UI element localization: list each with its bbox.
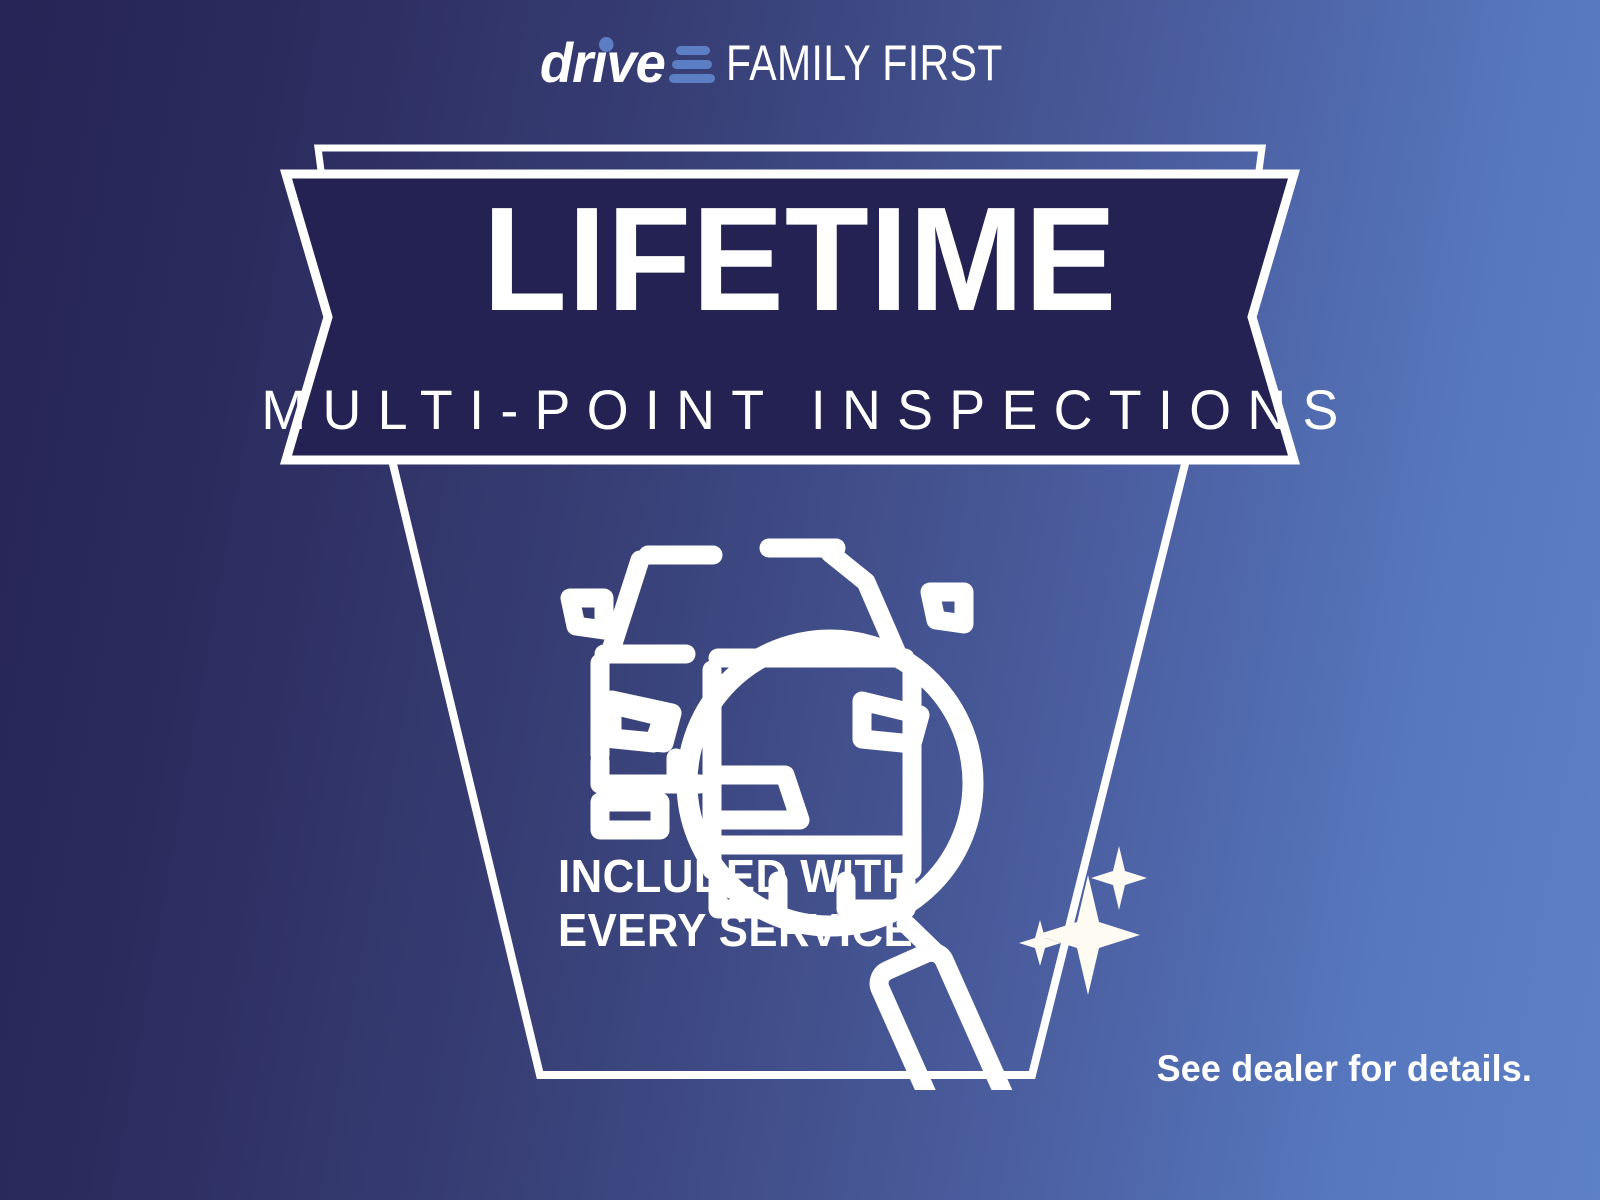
brand-lockup: drive FAMILY FIRST: [0, 28, 1600, 98]
car-magnifier-inspection-icon: [570, 548, 973, 926]
three-bars-icon: [672, 46, 715, 83]
disclaimer-text: See dealer for details.: [1157, 1050, 1532, 1087]
badge-artwork: [0, 130, 1600, 1090]
ribbon-banner: [286, 174, 1294, 460]
magnifier-handle: [875, 924, 1014, 1090]
brand-tagline: FAMILY FIRST: [726, 38, 1003, 88]
brand-wordmark: drive: [540, 35, 665, 91]
promo-graphic: drive FAMILY FIRST: [0, 0, 1600, 1200]
